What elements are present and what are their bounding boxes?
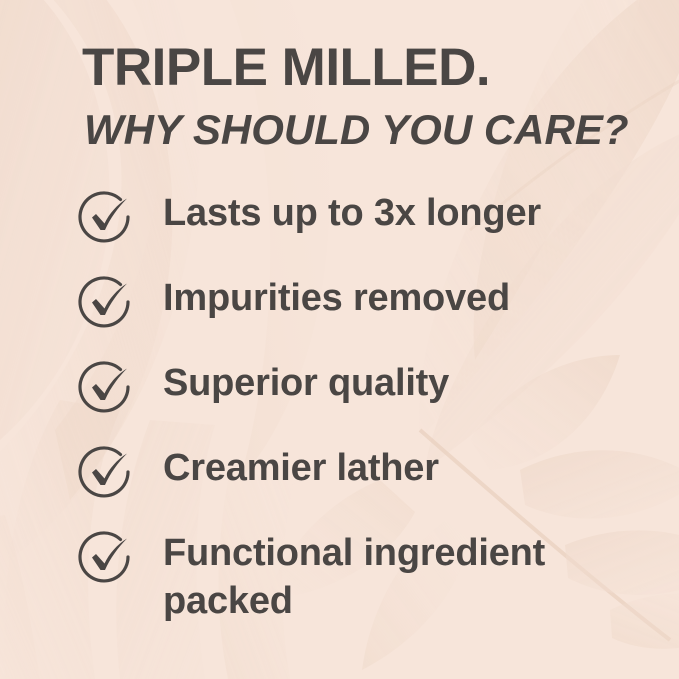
list-item-label: Lasts up to 3x longer	[163, 186, 541, 237]
list-item: Lasts up to 3x longer	[76, 186, 656, 271]
poster-content: TRIPLE MILLED. WHY SHOULD YOU CARE? Last…	[0, 0, 679, 679]
check-circle-icon	[76, 442, 138, 504]
list-item-label: Creamier lather	[163, 441, 439, 492]
benefit-list: Lasts up to 3x longer Impurities removed	[76, 186, 656, 636]
list-item: Impurities removed	[76, 271, 656, 356]
check-circle-icon	[76, 527, 138, 589]
list-item: Functional ingredient packed	[76, 526, 656, 636]
list-item-label: Functional ingredient packed	[163, 526, 583, 625]
check-circle-icon	[76, 357, 138, 419]
list-item-label: Impurities removed	[163, 271, 510, 322]
list-item: Superior quality	[76, 356, 656, 441]
list-item: Creamier lather	[76, 441, 656, 526]
poster-canvas: TRIPLE MILLED. WHY SHOULD YOU CARE? Last…	[0, 0, 679, 679]
check-circle-icon	[76, 272, 138, 334]
check-circle-icon	[76, 187, 138, 249]
list-item-label: Superior quality	[163, 356, 449, 407]
headline-block: TRIPLE MILLED. WHY SHOULD YOU CARE?	[82, 40, 642, 154]
page-title: TRIPLE MILLED.	[82, 40, 642, 96]
page-subtitle: WHY SHOULD YOU CARE?	[84, 106, 642, 154]
